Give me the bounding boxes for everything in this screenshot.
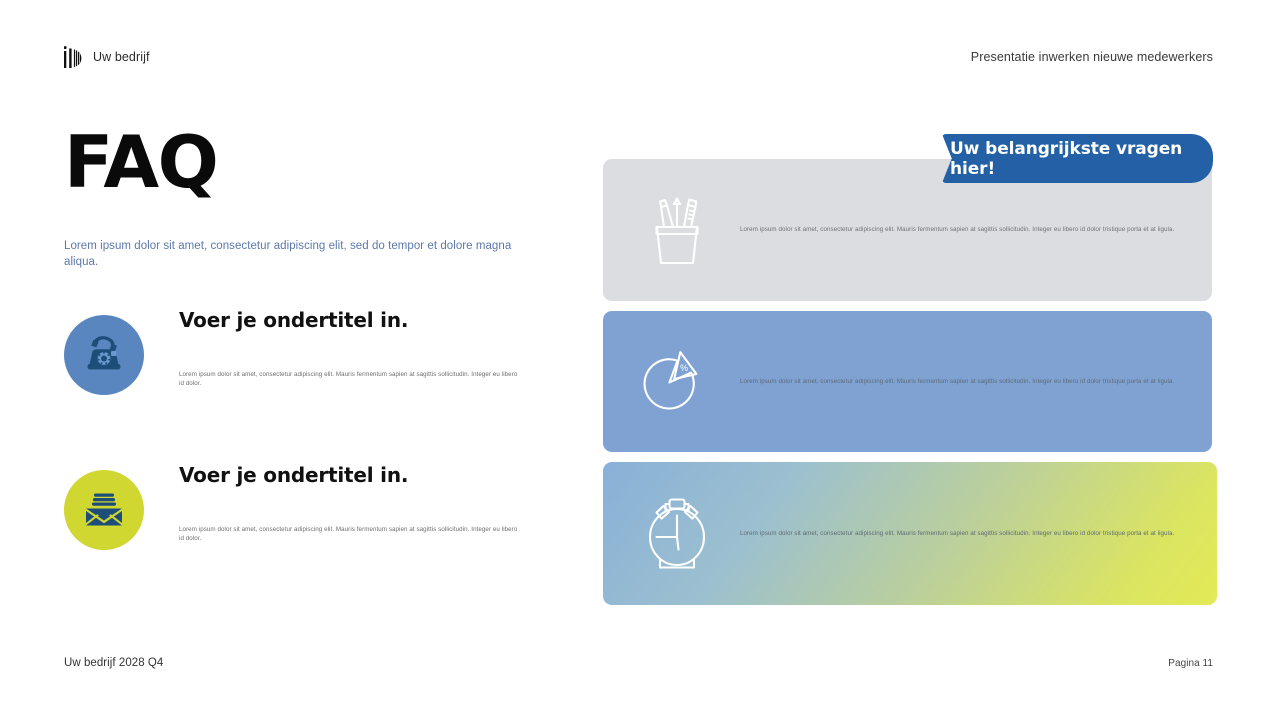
feature-icon-circle-2 — [64, 470, 144, 550]
brand-name: Uw bedrijf — [93, 50, 150, 64]
panel-alarm-clock[interactable]: Lorem ipsum dolor sit amet, consectetur … — [603, 462, 1217, 605]
footer-company: Uw bedrijf 2028 Q4 — [64, 657, 163, 669]
hero-subtitle: Lorem ipsum dolor sit amet, consectetur … — [64, 238, 544, 270]
rotary-telephone-icon — [81, 334, 127, 376]
envelope-mail-icon — [82, 490, 126, 530]
feature-text-1: Voer je ondertitel in. Lorem ipsum dolor… — [179, 308, 524, 389]
feature-row-1: Voer je ondertitel in. Lorem ipsum dolor… — [64, 308, 524, 395]
alarm-clock-icon — [641, 493, 713, 575]
panel-pie-chart[interactable]: % Lorem ipsum dolor sit amet, consectetu… — [603, 311, 1212, 452]
feature-text-2: Voer je ondertitel in. Lorem ipsum dolor… — [179, 463, 524, 544]
pie-chart-percent-icon: % — [641, 341, 713, 423]
callout-text: Uw belangrijkste vragen hier! — [942, 139, 1213, 179]
pencil-cup-icon — [641, 189, 713, 271]
callout-banner[interactable]: Uw belangrijkste vragen hier! — [942, 134, 1213, 183]
feature-row-2: Voer je ondertitel in. Lorem ipsum dolor… — [64, 463, 524, 550]
page-title: FAQ — [64, 128, 544, 196]
footer-page-number: Pagina 11 — [1168, 658, 1213, 669]
panel-text-1: Lorem ipsum dolor sit amet, consectetur … — [740, 225, 1174, 234]
feature-title-1: Voer je ondertitel in. — [179, 308, 524, 332]
company-bars-logo-icon — [64, 46, 82, 68]
panel-text-3: Lorem ipsum dolor sit amet, consectetur … — [740, 529, 1174, 538]
feature-title-2: Voer je ondertitel in. — [179, 463, 524, 487]
presentation-title: Presentatie inwerken nieuwe medewerkers — [971, 50, 1213, 64]
page-header: Uw bedrijf Presentatie inwerken nieuwe m… — [64, 44, 1213, 70]
feature-icon-circle-1 — [64, 315, 144, 395]
page-footer: Uw bedrijf 2028 Q4 Pagina 11 — [64, 657, 1213, 669]
feature-body-2: Lorem ipsum dolor sit amet, consectetur … — [179, 525, 524, 544]
svg-text:%: % — [680, 363, 688, 373]
panel-text-2: Lorem ipsum dolor sit amet, consectetur … — [740, 377, 1174, 386]
brand: Uw bedrijf — [64, 46, 150, 68]
feature-body-1: Lorem ipsum dolor sit amet, consectetur … — [179, 370, 524, 389]
hero-block: FAQ Lorem ipsum dolor sit amet, consecte… — [64, 128, 544, 271]
